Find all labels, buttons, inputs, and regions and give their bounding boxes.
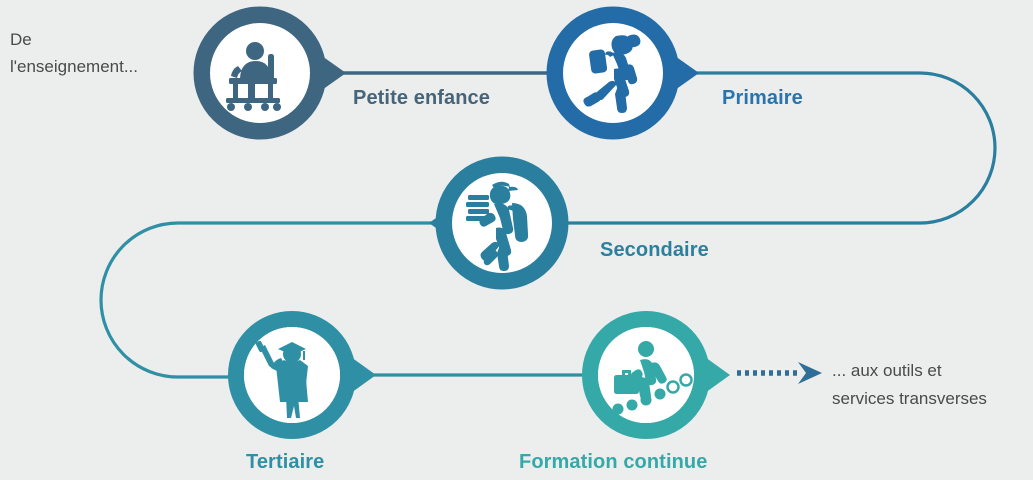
node-tertiaire[interactable]	[236, 319, 348, 431]
node-primaire[interactable]	[555, 15, 671, 131]
node-secondaire[interactable]	[444, 165, 560, 281]
diagram-canvas: De l'enseignement... Petite enfance Prim…	[0, 0, 1033, 480]
label-petite-enfance: Petite enfance	[353, 87, 490, 110]
node-disc-primaire	[563, 23, 663, 123]
label-primaire: Primaire	[722, 87, 803, 110]
dotted-arrow-to-outro	[737, 362, 822, 384]
node-formation-continue[interactable]	[590, 319, 702, 431]
dotted-arrow-head	[798, 362, 822, 384]
label-secondaire: Secondaire	[600, 239, 709, 262]
outro-text: ... aux outils et services transverses	[832, 357, 987, 413]
label-formation-continue: Formation continue	[519, 451, 707, 474]
intro-text: De l'enseignement...	[10, 26, 138, 80]
node-petite-enfance[interactable]	[202, 15, 318, 131]
label-tertiaire: Tertiaire	[246, 451, 324, 474]
